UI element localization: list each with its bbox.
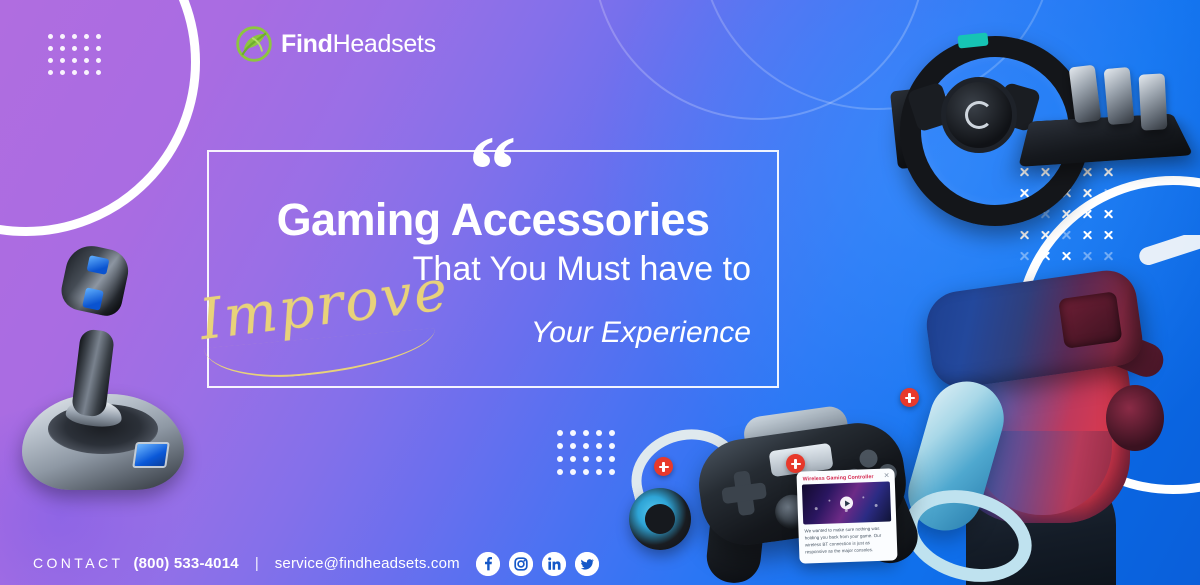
social-links xyxy=(476,552,599,576)
instagram-icon[interactable] xyxy=(509,552,533,576)
pedal-brake xyxy=(1104,67,1135,125)
dot-grid-center xyxy=(557,430,622,482)
vr-headset-cable xyxy=(1137,235,1200,267)
product-flight-joystick xyxy=(18,245,188,490)
brand-name-bold: Find xyxy=(281,30,333,58)
brand-logo[interactable]: FindHeadsets xyxy=(236,26,436,62)
close-icon[interactable]: ✕ xyxy=(881,472,890,479)
footer-bar: CONTACT (800) 533-4014 | service@findhea… xyxy=(0,539,1200,585)
play-icon[interactable] xyxy=(840,496,853,509)
popup-card-title: Wireless Gaming Controller xyxy=(803,474,874,482)
linkedin-icon[interactable] xyxy=(542,552,566,576)
twitter-icon[interactable] xyxy=(575,552,599,576)
contact-separator: | xyxy=(249,555,265,572)
facebook-icon[interactable] xyxy=(476,552,500,576)
contact-phone[interactable]: (800) 533-4014 xyxy=(133,555,238,572)
pedal-clutch xyxy=(1069,65,1102,124)
ring-decoration-a xyxy=(592,0,926,120)
hotspot-gamepad[interactable] xyxy=(786,454,805,473)
joystick-base-button xyxy=(132,442,170,468)
contact-email[interactable]: service@findheadsets.com xyxy=(275,555,460,572)
brand-name-light: Headsets xyxy=(333,30,436,58)
leaf-swirl-logo-icon xyxy=(236,26,272,62)
dot-grid-top-left xyxy=(48,34,108,82)
hotspot-headphones[interactable] xyxy=(654,457,673,476)
popup-card-video-thumbnail[interactable] xyxy=(802,481,891,524)
product-racing-wheel xyxy=(890,28,1190,188)
quotation-mark-icon: “ xyxy=(455,122,532,218)
brand-name: FindHeadsets xyxy=(281,32,436,57)
contact-info: CONTACT (800) 533-4014 | service@findhea… xyxy=(33,555,460,572)
vr-headset-earcup xyxy=(1106,385,1164,451)
gamepad-dpad xyxy=(719,468,769,518)
wheel-hub xyxy=(941,77,1017,153)
contact-label: CONTACT xyxy=(33,555,123,571)
promo-banner: FindHeadsets xyxy=(0,0,1200,585)
arc-decoration-top-left xyxy=(0,0,200,236)
hotspot-vr-controller[interactable] xyxy=(900,388,919,407)
headline-frame: Gaming Accessories That You Must have to… xyxy=(207,150,779,388)
pedal-accelerator xyxy=(1139,73,1168,130)
